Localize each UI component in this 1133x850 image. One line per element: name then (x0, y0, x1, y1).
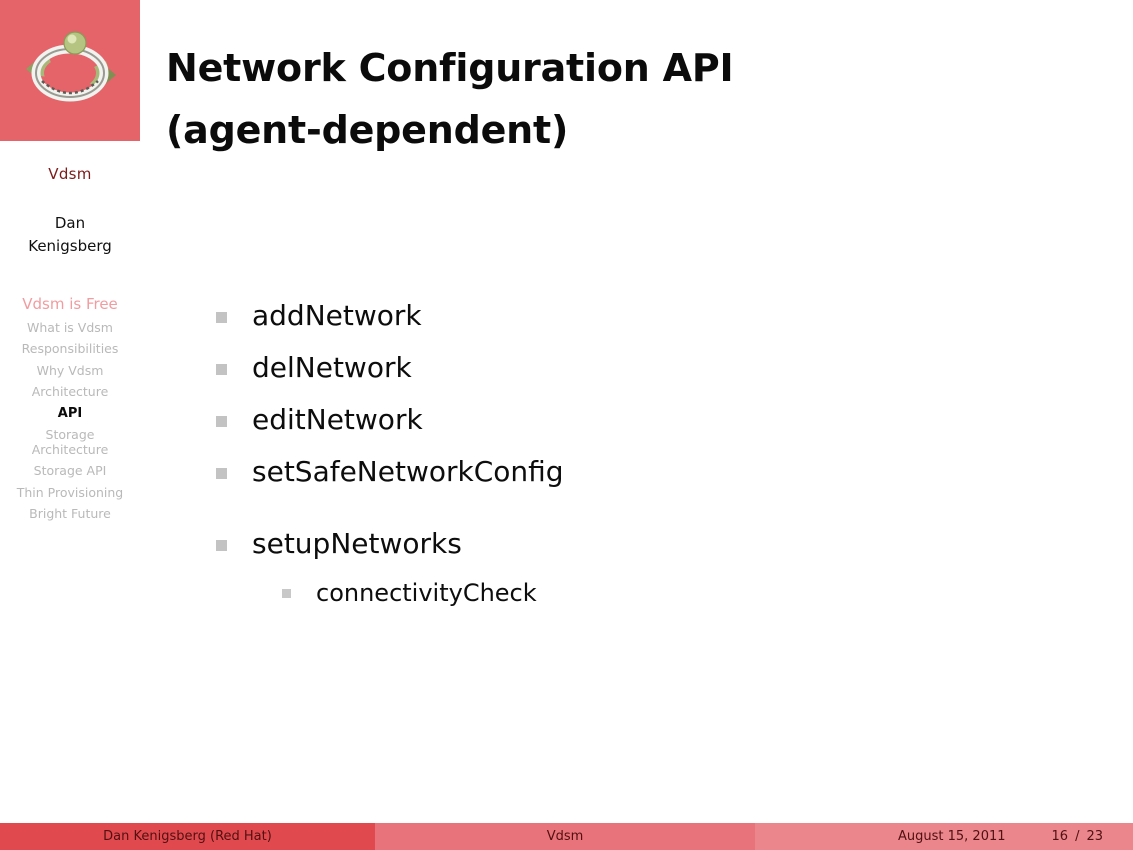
footer-meta: August 15, 2011 16 / 23 (755, 823, 1133, 850)
footer-date: August 15, 2011 (898, 829, 1006, 844)
page-title-line-1: Network Configuration API (166, 46, 733, 90)
footer-page-current: 16 (1052, 829, 1069, 844)
bullet-square-icon (216, 540, 227, 551)
api-method-list: addNetwork delNetwork editNetwork setSaf… (216, 290, 1113, 616)
list-item-label: delNetwork (252, 342, 412, 394)
presentation-slide: Vdsm Dan Kenigsberg Vdsm is Free What is… (0, 0, 1133, 850)
footer-title: Vdsm (375, 823, 755, 850)
slide-footer: Dan Kenigsberg (Red Hat) Vdsm August 15,… (0, 823, 1133, 850)
sidebar-item-storage-api[interactable]: Storage API (0, 461, 140, 483)
bullet-square-icon (216, 312, 227, 323)
sidebar-table-of-contents: Vdsm is Free What is Vdsm Responsibiliti… (0, 293, 140, 525)
bullet-square-icon (216, 364, 227, 375)
vdsm-ring-logo-icon (18, 25, 122, 117)
footer-page-separator: / (1075, 829, 1079, 844)
sidebar-author-last: Kenigsberg (0, 235, 140, 258)
list-item-label: setupNetworks (252, 518, 462, 570)
list-item-label: connectivityCheck (316, 570, 537, 616)
sidebar-item-why-vdsm[interactable]: Why Vdsm (0, 360, 140, 382)
list-item-label: editNetwork (252, 394, 423, 446)
list-item: editNetwork (216, 394, 1113, 446)
page-title-line-2: (agent-dependent) (166, 108, 568, 152)
sidebar-item-storage-architecture[interactable]: Storage Architecture (0, 425, 140, 461)
list-item: delNetwork (216, 342, 1113, 394)
sidebar-item-responsibilities[interactable]: Responsibilities (0, 339, 140, 361)
list-item: addNetwork (216, 290, 1113, 342)
bullet-square-icon (216, 416, 227, 427)
sidebar-item-bright-future[interactable]: Bright Future (0, 504, 140, 526)
footer-page-indicator: 16 / 23 (1052, 829, 1103, 844)
list-item-label: addNetwork (252, 290, 422, 342)
bullet-square-icon (216, 468, 227, 479)
bullet-square-icon (282, 589, 291, 598)
list-item: setSafeNetworkConfig (216, 446, 1113, 498)
sidebar-author: Dan Kenigsberg (0, 212, 140, 258)
list-item-nested: connectivityCheck (216, 570, 1113, 616)
list-item: setupNetworks (216, 518, 1113, 570)
sidebar-author-first: Dan (0, 212, 140, 235)
sidebar-item-what-is-vdsm[interactable]: What is Vdsm (0, 317, 140, 339)
sidebar: Vdsm Dan Kenigsberg Vdsm is Free What is… (0, 0, 140, 823)
page-title: Network Configuration API (agent-depende… (166, 37, 1093, 161)
toc-section-header[interactable]: Vdsm is Free (0, 293, 140, 315)
logo-block (0, 0, 140, 141)
footer-author: Dan Kenigsberg (Red Hat) (0, 823, 375, 850)
footer-page-total: 23 (1086, 829, 1103, 844)
sidebar-item-api[interactable]: API (0, 403, 140, 425)
slide-content: Network Configuration API (agent-depende… (140, 0, 1133, 823)
list-item-label: setSafeNetworkConfig (252, 446, 564, 498)
sidebar-presentation-title: Vdsm (0, 165, 140, 183)
sidebar-item-architecture[interactable]: Architecture (0, 382, 140, 404)
sidebar-item-thin-provisioning[interactable]: Thin Provisioning (0, 482, 140, 504)
